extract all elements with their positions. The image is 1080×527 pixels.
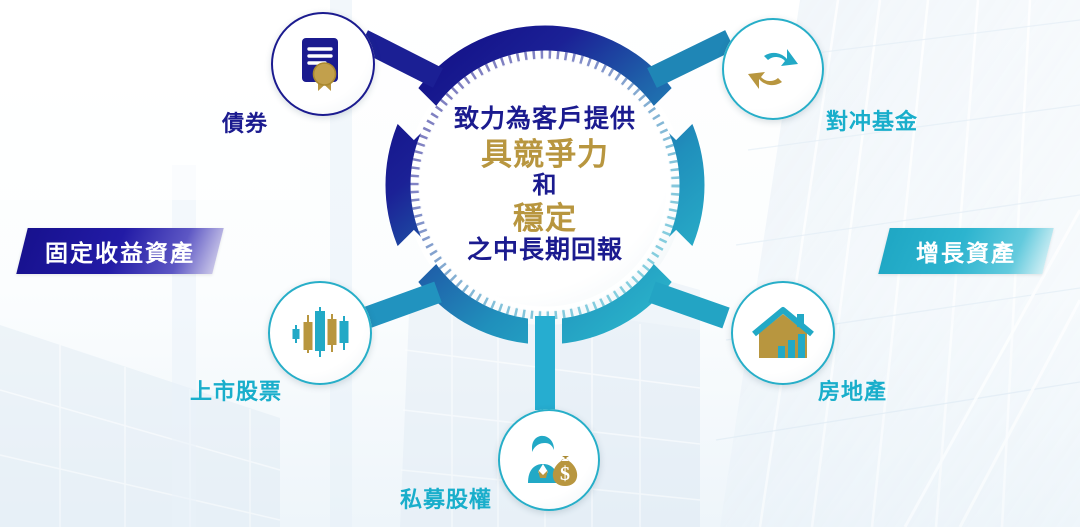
candlestick-chart-icon [268, 281, 372, 385]
node-listed-equity-label: 上市股票 [190, 374, 282, 406]
hub-ring [385, 25, 705, 345]
node-listed-equity[interactable] [268, 281, 372, 385]
node-private-equity[interactable]: $ [498, 409, 600, 511]
svg-text:$: $ [560, 463, 570, 485]
node-real-estate-label: 房地產 [818, 374, 887, 406]
node-bond[interactable] [271, 12, 375, 116]
house-bars-icon [731, 281, 835, 385]
businessman-moneybag-icon: $ [498, 409, 600, 511]
recycle-arrows-icon [722, 18, 824, 120]
node-real-estate[interactable] [731, 281, 835, 385]
node-hedge-fund-label: 對冲基金 [826, 104, 918, 136]
node-hedge-fund[interactable] [722, 18, 824, 120]
node-private-equity-label: 私募股權 [400, 482, 492, 514]
certificate-icon [271, 12, 375, 116]
node-bond-label: 債券 [222, 106, 268, 138]
badge-growth-assets[interactable]: 增長資產 [878, 228, 1053, 274]
badge-fixed-income-label: 固定收益資產 [45, 234, 195, 268]
badge-fixed-income[interactable]: 固定收益資產 [16, 228, 223, 274]
infographic-canvas: 致力為客戶提供 具競爭力 和 穩定 之中長期回報 固定收益資產 增長資產 [0, 0, 1080, 527]
badge-growth-assets-label: 增長資產 [916, 234, 1016, 268]
